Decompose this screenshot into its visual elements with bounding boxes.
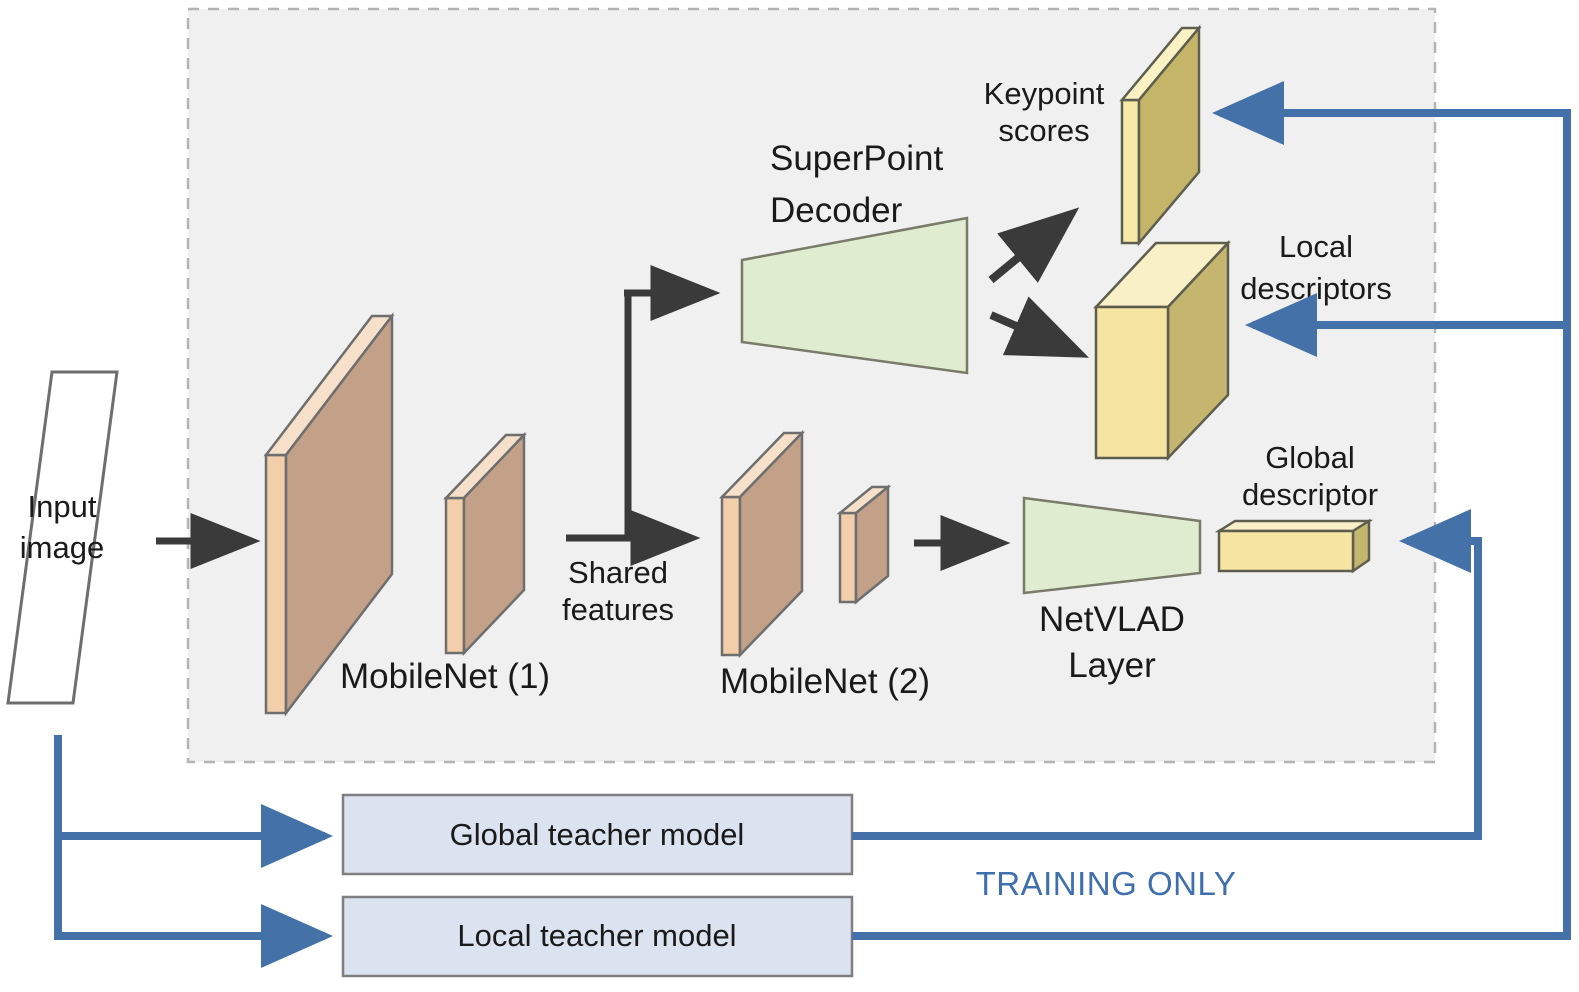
local-descriptors-label-2: descriptors — [1240, 271, 1392, 306]
diagram-canvas: Input image MobileNet (1) Shared feature… — [0, 0, 1579, 992]
netvlad-label-1: NetVLAD — [1039, 600, 1185, 639]
netvlad-label-2: Layer — [1068, 646, 1156, 685]
local-descriptors-label-1: Local — [1279, 229, 1353, 264]
global-descriptor-label-2: descriptor — [1242, 477, 1378, 512]
global-teacher-label: Global teacher model — [450, 817, 745, 852]
shared-features-label-2: features — [562, 592, 674, 627]
keypoint-scores-label-2: scores — [998, 113, 1089, 148]
mobilenet2-label: MobileNet (2) — [720, 662, 930, 701]
global-descriptor-shape — [1219, 521, 1369, 571]
mobilenet1-label: MobileNet (1) — [340, 657, 550, 696]
global-descriptor-label-1: Global — [1265, 440, 1355, 475]
input-image-label-1: Input — [28, 489, 97, 524]
input-image-label-2: image — [20, 530, 104, 565]
shared-features-label-1: Shared — [568, 555, 668, 590]
local-teacher-label: Local teacher model — [457, 918, 736, 953]
superpoint-decoder-label-1: SuperPoint — [770, 139, 943, 178]
superpoint-decoder-label-2: Decoder — [770, 191, 903, 230]
training-only-label: TRAINING ONLY — [976, 865, 1237, 902]
keypoint-scores-label-1: Keypoint — [984, 76, 1105, 111]
architecture-diagram: Input image MobileNet (1) Shared feature… — [0, 0, 1579, 992]
